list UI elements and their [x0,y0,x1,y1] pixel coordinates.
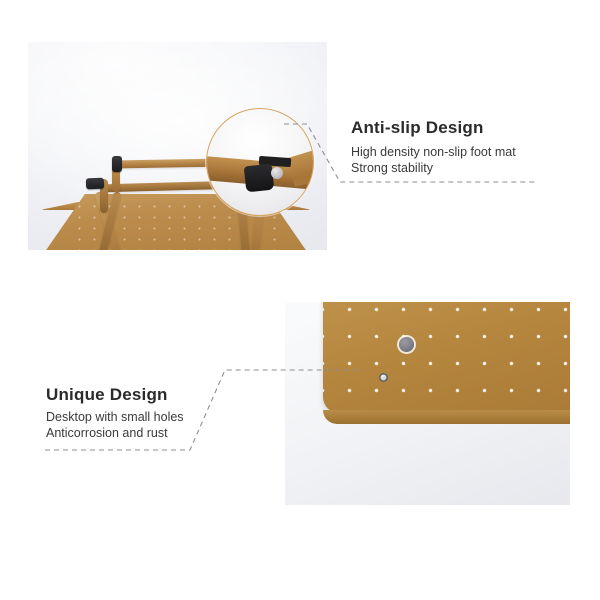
desktop-holes-grid [323,302,570,413]
magnifier-circle-icon [206,108,314,216]
magnified-non-slip-foot-mat [244,164,275,193]
anti-slip-title: Anti-slip Design [351,118,484,138]
highlight-hole-icon [399,337,414,352]
anti-slip-body-line-2: Strong stability [351,160,516,176]
screw-icon-left [379,373,388,382]
anti-slip-body: High density non-slip foot mat Strong st… [351,144,516,176]
unique-design-body: Desktop with small holes Anticorrosion a… [46,409,184,441]
desktop-panel-lip [323,410,570,424]
unique-design-title: Unique Design [46,385,168,405]
unique-design-body-line-2: Anticorrosion and rust [46,425,184,441]
rubber-grip-icon-upper [112,156,122,172]
perforated-desktop-panel [323,302,570,413]
rubber-grip-icon-lower [86,178,104,190]
anti-slip-body-line-1: High density non-slip foot mat [351,144,516,160]
anti-slip-product-photo [28,42,327,250]
infographic-page: Anti-slip Design High density non-slip f… [0,0,600,600]
unique-design-product-photo [285,302,570,505]
unique-design-body-line-1: Desktop with small holes [46,409,184,425]
magnified-screw-icon [271,167,283,179]
